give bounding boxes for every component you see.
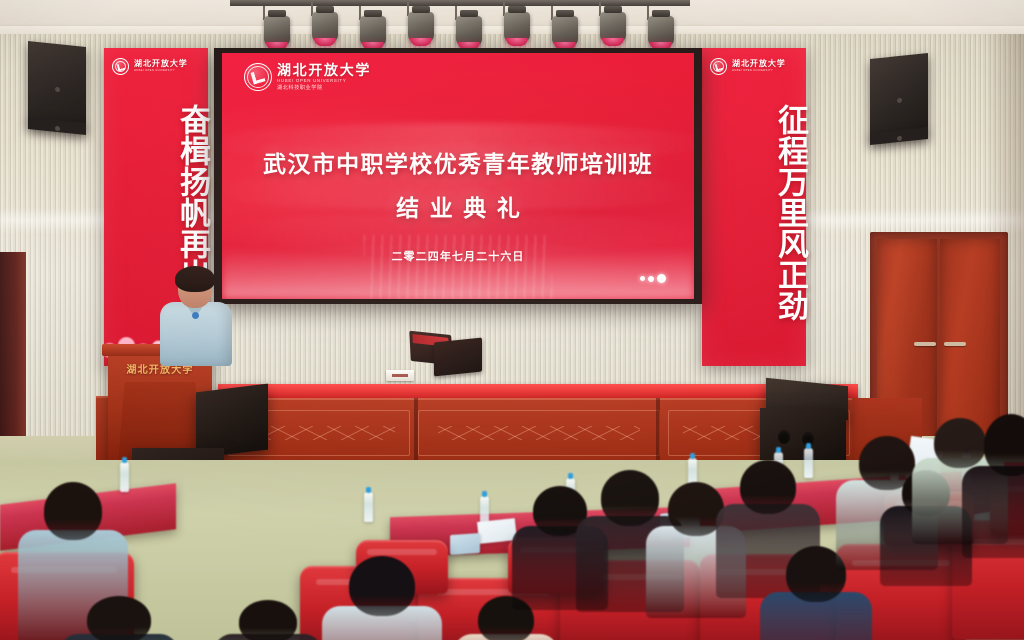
university-seal-icon	[112, 58, 129, 75]
wall-speaker-right	[870, 53, 928, 139]
banner-right-logo-cn: 湖北开放大学	[732, 60, 786, 68]
university-seal-icon	[244, 63, 272, 91]
banner-left-logo: 湖北开放大学 HUBEI OPEN UNIVERSITY	[112, 58, 188, 75]
audience-member-head	[740, 460, 796, 514]
audience-member-head	[349, 556, 415, 616]
ceremony-title: 武汉市中职学校优秀青年教师培训班	[222, 145, 694, 179]
audience-member	[322, 556, 442, 640]
banner-left-logo-en: HUBEI OPEN UNIVERSITY	[134, 70, 188, 73]
banner-right-logo-en: HUBEI OPEN UNIVERSITY	[732, 70, 786, 73]
banner-right: 湖北开放大学 HUBEI OPEN UNIVERSITY 征程万里风正劲	[702, 48, 806, 366]
presenter	[160, 268, 232, 364]
banner-right-logo: 湖北开放大学 HUBEI OPEN UNIVERSITY	[710, 58, 786, 75]
wall-speaker-left	[28, 41, 86, 129]
audience-member	[962, 414, 1024, 568]
laptop[interactable]	[434, 337, 482, 376]
door-handle-left[interactable]	[914, 342, 936, 346]
presenter-hair	[175, 266, 215, 292]
audience-member-head	[239, 600, 297, 640]
ceremony-subtitle: 结业典礼	[222, 189, 694, 223]
banner-right-text: 征程万里风正劲	[702, 104, 806, 321]
audience-member	[214, 600, 322, 640]
left-wall-recess	[0, 252, 26, 464]
audience-member-head	[984, 414, 1024, 476]
water-bottle	[364, 492, 373, 522]
name-card	[386, 370, 414, 381]
led-screen: 湖北开放大学 HUBEI OPEN UNIVERSITY 湖北科技职业学院 武汉…	[222, 53, 694, 299]
led-indicator-dots	[640, 274, 666, 283]
screen-logo-cn: 湖北开放大学	[277, 63, 371, 77]
audience-member-head	[44, 482, 102, 540]
audience-member-torso	[962, 466, 1024, 558]
table-seam-right	[656, 398, 660, 464]
presenter-lapel-mic	[192, 312, 199, 319]
table-seam-left	[414, 398, 418, 464]
lighting-truss	[230, 0, 690, 6]
university-seal-icon	[710, 58, 727, 75]
screen-logo-lockup: 湖北开放大学 HUBEI OPEN UNIVERSITY 湖北科技职业学院	[244, 63, 371, 91]
audience-member-head	[87, 596, 151, 640]
notebook	[450, 533, 480, 555]
auditorium-photo: 湖北开放大学 HUBEI OPEN UNIVERSITY 奋楫扬帆再出发 湖北开…	[0, 0, 1024, 640]
banner-left-logo-cn: 湖北开放大学	[134, 60, 188, 68]
door-handle-right[interactable]	[944, 342, 966, 346]
screen-logo-sub: 湖北科技职业学院	[277, 86, 371, 91]
audience-member	[60, 596, 178, 640]
screen-logo-en: HUBEI OPEN UNIVERSITY	[277, 79, 371, 83]
